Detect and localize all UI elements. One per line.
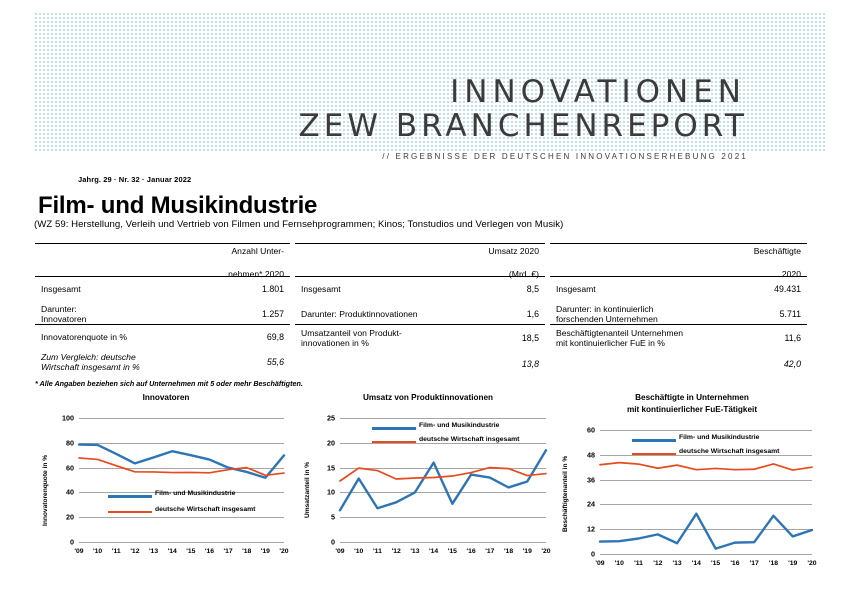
chart-y-tick: 48 — [587, 450, 595, 459]
chart-gridline — [600, 554, 812, 555]
row-label-line2: forschenden Unternehmen — [556, 314, 658, 324]
row-value: 1.801 — [256, 284, 284, 294]
row-label: Zum Vergleich: deutsche Wirtschaft insge… — [41, 352, 140, 373]
row-value: 18,5 — [516, 333, 539, 343]
chart-x-tick: '19 — [784, 560, 802, 567]
legend-color-swatch — [372, 441, 416, 443]
row-label-line2: innovationen in % — [301, 338, 369, 348]
chart-gridline — [600, 529, 812, 530]
table-body-upper: Insgesamt 49.431 Darunter: in kontinuier… — [550, 277, 807, 325]
chart-x-tick: '20 — [803, 560, 821, 567]
chart-x-tick: '12 — [649, 560, 667, 567]
chart-x-tick: '09 — [70, 548, 88, 555]
table-header-line2: nehmen* 2020 — [228, 269, 284, 281]
table-body-lower: Beschäftigtenanteil Unternehmen mit kont… — [550, 325, 807, 375]
row-label-line1: Beschäftigtenanteil Unternehmen — [556, 328, 683, 338]
table-row: Insgesamt 1.801 — [35, 277, 290, 301]
legend-color-swatch — [108, 511, 152, 513]
row-label: Darunter: Produktinnovationen — [301, 309, 418, 320]
summary-table: Anzahl Unter- nehmen* 2020 Insgesamt 1.8… — [35, 243, 807, 374]
chart-x-tick: '14 — [687, 560, 705, 567]
page-header: INNOVATIONEN ZEW BRANCHENREPORT // ERGEB… — [0, 0, 842, 168]
chart-x-tick: '17 — [745, 560, 763, 567]
chart-y-tick: 0 — [591, 550, 595, 559]
table-header-line1: Anzahl Unter- — [228, 246, 284, 258]
chart-series-line — [600, 514, 812, 549]
chart-x-tick: '15 — [707, 560, 725, 567]
row-label: Umsatzanteil von Produkt- innovationen i… — [301, 328, 402, 349]
chart-gridline — [79, 542, 284, 543]
chart-plot-area: Innovatorenquote in %020406080100'09'10'… — [32, 392, 300, 590]
table-header-beschaeftigte: Beschäftigte 2020 — [550, 244, 807, 277]
chart-plot-area: Beschäftigtenanteil in %01224364860'09'1… — [556, 392, 828, 590]
chart-x-tick: '19 — [518, 548, 536, 555]
table-header-umsatz: Umsatz 2020 (Mrd. €) — [295, 244, 545, 277]
row-label: Insgesamt — [301, 284, 341, 295]
chart-x-tick: '17 — [219, 548, 237, 555]
chart-y-tick: 60 — [66, 463, 74, 472]
chart-x-tick: '16 — [726, 560, 744, 567]
row-value: 1,6 — [521, 309, 539, 319]
table-row: Darunter: in kontinuierlich forschenden … — [550, 301, 807, 327]
legend-label: Film- und Musikindustrie — [679, 434, 759, 441]
chart-y-tick: 60 — [587, 426, 595, 435]
chart-y-tick: 25 — [327, 414, 335, 423]
chart-x-tick: '14 — [163, 548, 181, 555]
chart-y-tick: 15 — [327, 463, 335, 472]
table-column-unternehmen: Anzahl Unter- nehmen* 2020 Insgesamt 1.8… — [35, 243, 290, 374]
table-row: Zum Vergleich: deutsche Wirtschaft insge… — [35, 349, 290, 375]
chart-y-tick: 0 — [331, 538, 335, 547]
legend-color-swatch — [632, 453, 676, 455]
row-label: Beschäftigtenanteil Unternehmen mit kont… — [556, 328, 683, 349]
chart-x-tick: '13 — [406, 548, 424, 555]
chart-x-tick: '13 — [668, 560, 686, 567]
table-row: Innovatorenquote in % 69,8 — [35, 325, 290, 349]
brand-subtitle: // ERGEBNISSE DER DEUTSCHEN INNOVATIONSE… — [0, 152, 748, 161]
row-value: 5.711 — [774, 309, 801, 319]
table-footnote: * Alle Angaben beziehen sich auf Unterne… — [35, 379, 303, 388]
chart-x-tick: '09 — [591, 560, 609, 567]
chart-innovatoren: InnovatorenInnovatorenquote in %02040608… — [32, 392, 300, 590]
chart-series-line — [79, 458, 284, 475]
table-header-unternehmen: Anzahl Unter- nehmen* 2020 — [35, 244, 290, 277]
table-body-upper: Insgesamt 1.801 Darunter: Innovatoren 1.… — [35, 277, 290, 325]
table-body-lower: Innovatorenquote in % 69,8 Zum Vergleich… — [35, 325, 290, 375]
legend-label: deutsche Wirtschaft insgesamt — [155, 506, 255, 513]
row-value: 69,8 — [261, 332, 284, 342]
chart-x-tick: '19 — [256, 548, 274, 555]
row-value: 1.257 — [256, 309, 284, 319]
chart-gridline — [340, 492, 546, 493]
chart-y-tick: 12 — [587, 525, 595, 534]
row-label-line2: mit kontinuierlicher FuE in % — [556, 338, 665, 348]
report-page: INNOVATIONEN ZEW BRANCHENREPORT // ERGEB… — [0, 0, 842, 595]
chart-x-tick: '10 — [89, 548, 107, 555]
chart-series-line — [340, 468, 546, 481]
row-value: 8,5 — [521, 284, 539, 294]
chart-y-tick: 100 — [62, 414, 74, 423]
row-value: 13,8 — [516, 359, 539, 369]
chart-gridline — [79, 517, 284, 518]
table-header-line1: Beschäftigte — [754, 246, 801, 258]
chart-x-tick: '11 — [107, 548, 125, 555]
chart-gridline — [340, 542, 546, 543]
chart-x-tick: '18 — [238, 548, 256, 555]
table-row: Insgesamt 8,5 — [295, 277, 545, 301]
chart-y-tick: 5 — [331, 513, 335, 522]
chart-y-tick: 0 — [70, 538, 74, 547]
issue-info: Jahrg. 29 · Nr. 32 · Januar 2022 — [78, 175, 191, 184]
chart-y-tick: 10 — [327, 488, 335, 497]
legend-label: deutsche Wirtschaft insgesamt — [679, 448, 779, 455]
chart-gridline — [600, 504, 812, 505]
chart-plot-area: Umsatzanteil in %0510152025'09'10'11'12'… — [300, 392, 556, 590]
chart-x-tick: '16 — [462, 548, 480, 555]
legend-label: Film- und Musikindustrie — [155, 490, 235, 497]
table-column-beschaeftigte: Beschäftigte 2020 Insgesamt 49.431 Darun… — [550, 243, 807, 374]
row-label: Innovatorenquote in % — [41, 332, 127, 343]
chart-x-tick: '16 — [200, 548, 218, 555]
chart-x-tick: '15 — [443, 548, 461, 555]
chart-x-tick: '10 — [350, 548, 368, 555]
chart-y-axis-label: Umsatzanteil in % — [304, 462, 311, 518]
table-row: Darunter: Produktinnovationen 1,6 — [295, 301, 545, 327]
chart-x-tick: '12 — [126, 548, 144, 555]
row-label-line2: Wirtschaft insgesamt in % — [41, 362, 140, 372]
row-label: Insgesamt — [41, 284, 81, 295]
chart-x-tick: '18 — [764, 560, 782, 567]
chart-y-tick: 40 — [66, 488, 74, 497]
chart-x-tick: '14 — [425, 548, 443, 555]
chart-y-axis-label: Innovatorenquote in % — [42, 455, 49, 526]
chart-gridline — [600, 430, 812, 431]
row-label: Darunter: Innovatoren — [41, 304, 86, 325]
legend-color-swatch — [632, 439, 676, 442]
chart-x-tick: '12 — [387, 548, 405, 555]
table-row: Darunter: Innovatoren 1.257 — [35, 301, 290, 327]
legend-color-swatch — [108, 495, 152, 498]
table-header-line2: 2020 — [754, 269, 801, 281]
row-value: 42,0 — [778, 359, 801, 369]
chart-x-tick: '20 — [537, 548, 555, 555]
row-value: 55,6 — [261, 357, 284, 367]
legend-color-swatch — [372, 427, 416, 430]
chart-gridline — [340, 418, 546, 419]
chart-x-tick: '15 — [182, 548, 200, 555]
row-label: Darunter: in kontinuierlich forschenden … — [556, 304, 658, 325]
row-label-line1: Umsatzanteil von Produkt- — [301, 328, 402, 338]
row-label: Insgesamt — [556, 284, 596, 295]
chart-beschaeftigte-fue: Beschäftigte in Unternehmenmit kontinuie… — [556, 392, 828, 590]
page-title: Film- und Musikindustrie — [38, 192, 317, 220]
table-row: 13,8 — [295, 351, 545, 377]
table-column-umsatz: Umsatz 2020 (Mrd. €) Insgesamt 8,5 Darun… — [295, 243, 545, 374]
chart-x-tick: '18 — [500, 548, 518, 555]
page-subtitle: (WZ 59: Herstellung, Verleih und Vertrie… — [34, 219, 563, 230]
chart-x-tick: '11 — [630, 560, 648, 567]
brand-title-innovationen: INNOVATIONEN — [0, 74, 746, 110]
chart-gridline — [79, 468, 284, 469]
table-row: Beschäftigtenanteil Unternehmen mit kont… — [550, 325, 807, 351]
table-header-line1: Umsatz 2020 — [488, 246, 539, 258]
chart-gridline — [340, 468, 546, 469]
chart-y-tick: 20 — [66, 513, 74, 522]
chart-series-line — [600, 463, 812, 470]
chart-y-tick: 24 — [587, 500, 595, 509]
row-label-line1: Zum Vergleich: deutsche — [41, 352, 136, 362]
row-label-line1: Darunter: — [41, 304, 77, 314]
chart-gridline — [79, 443, 284, 444]
chart-series-line — [340, 450, 546, 510]
legend-label: deutsche Wirtschaft insgesamt — [419, 436, 519, 443]
table-header-line2: (Mrd. €) — [488, 269, 539, 281]
chart-x-tick: '20 — [275, 548, 293, 555]
chart-y-tick: 80 — [66, 438, 74, 447]
row-value: 11,6 — [779, 333, 801, 343]
chart-x-tick: '09 — [331, 548, 349, 555]
chart-x-tick: '17 — [481, 548, 499, 555]
chart-gridline — [79, 418, 284, 419]
chart-gridline — [600, 480, 812, 481]
chart-y-tick: 20 — [327, 438, 335, 447]
chart-y-axis-label: Beschäftigtenanteil in % — [562, 456, 569, 532]
table-body-lower: Umsatzanteil von Produkt- innovationen i… — [295, 325, 545, 375]
chart-x-tick: '13 — [145, 548, 163, 555]
table-row: 42,0 — [550, 351, 807, 377]
chart-y-tick: 36 — [587, 475, 595, 484]
row-label-line2: Innovatoren — [41, 314, 86, 324]
chart-x-tick: '10 — [610, 560, 628, 567]
chart-gridline — [340, 517, 546, 518]
row-value: 49.431 — [768, 284, 801, 294]
table-row: Insgesamt 49.431 — [550, 277, 807, 301]
row-label-line1: Darunter: in kontinuierlich — [556, 304, 653, 314]
table-row: Umsatzanteil von Produkt- innovationen i… — [295, 325, 545, 351]
chart-series-line — [79, 445, 284, 478]
brand-title-branchenreport: ZEW BRANCHENREPORT — [0, 108, 748, 144]
chart-x-tick: '11 — [368, 548, 386, 555]
legend-label: Film- und Musikindustrie — [419, 422, 499, 429]
chart-umsatz-produktinnovationen: Umsatz von ProduktinnovationenUmsatzante… — [300, 392, 556, 590]
table-body-upper: Insgesamt 8,5 Darunter: Produktinnovatio… — [295, 277, 545, 325]
